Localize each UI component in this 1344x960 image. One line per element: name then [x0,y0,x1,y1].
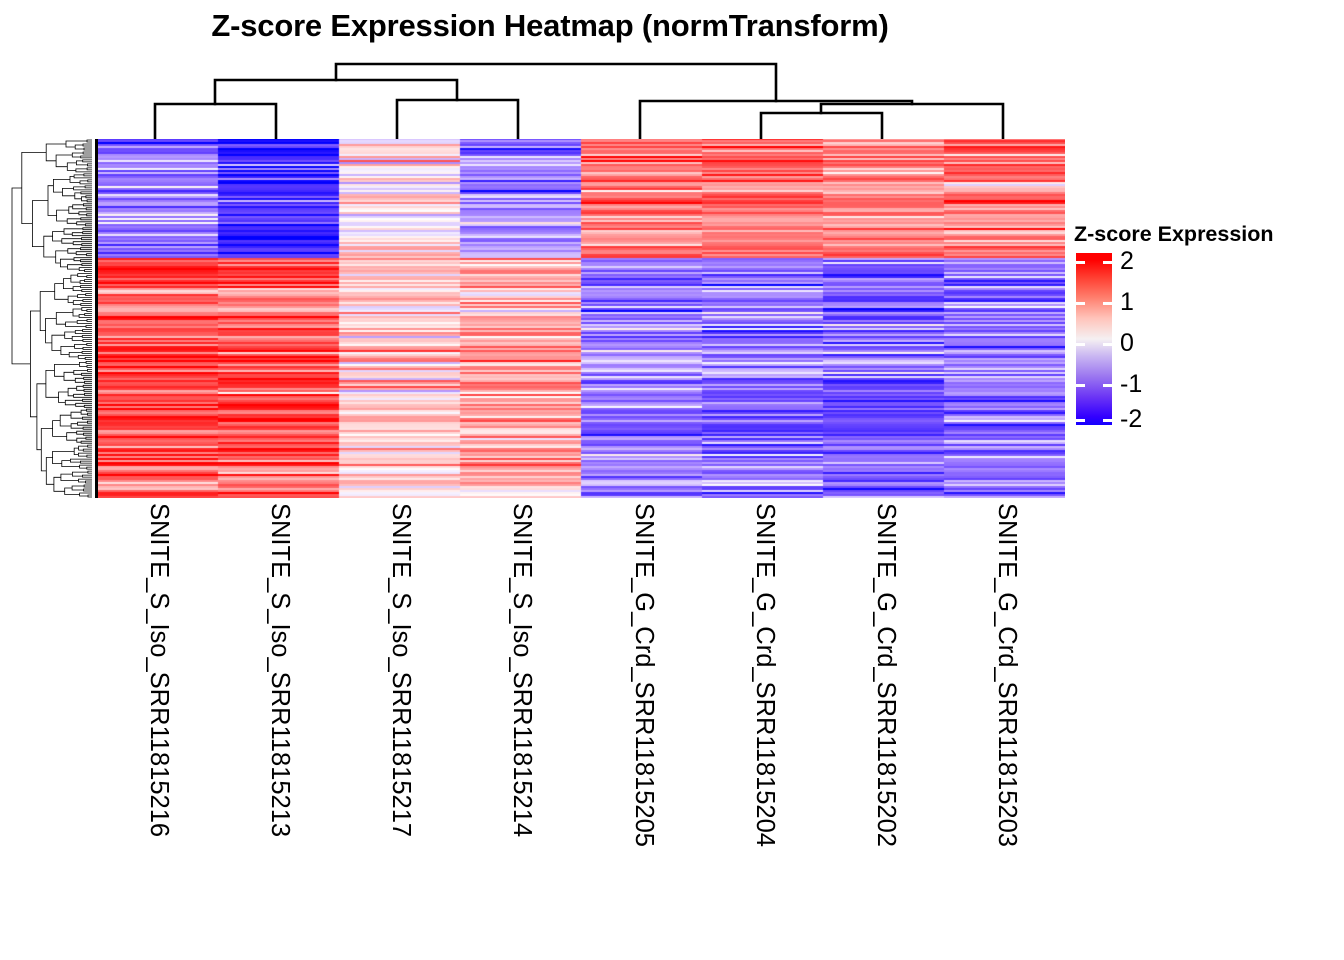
column-label-3: SNITE_S_Iso_SRR11815214 [510,503,536,923]
column-label-6: SNITE_G_Crd_SRR11815202 [874,503,900,923]
column-label-1: SNITE_S_Iso_SRR11815213 [268,503,294,923]
colorbar-tick-mark [1076,419,1085,422]
heatmap-panel[interactable] [95,139,1065,498]
colorbar-tick-label-minus2: -2 [1120,407,1142,432]
colorbar-tick-label-minus1: -1 [1120,372,1142,397]
colorbar-tick-mark [1103,343,1112,346]
column-label-4: SNITE_G_Crd_SRR11815205 [632,503,658,923]
legend-colorbar-body: 2 1 0 -1 -2 [1074,253,1339,429]
colorbar-tick-mark [1076,343,1085,346]
colorbar-tick-mark [1103,261,1112,264]
colorbar-tick-mark [1103,384,1112,387]
colorbar-tick-mark [1076,302,1085,305]
legend-title: Z-score Expression [1074,222,1339,247]
page-title: Z-score Expression Heatmap (normTransfor… [0,8,1100,44]
row-dendrogram [10,139,92,498]
column-dendrogram [0,55,1080,140]
column-label-5: SNITE_G_Crd_SRR11815204 [753,503,779,923]
colorbar-tick-mark [1103,419,1112,422]
heatmap-canvas[interactable] [98,139,1065,498]
column-label-0: SNITE_S_Iso_SRR11815216 [147,503,173,923]
colorbar-tick-label-1: 1 [1120,290,1134,315]
colorbar-tick-mark [1103,302,1112,305]
column-label-7: SNITE_G_Crd_SRR11815203 [995,503,1021,923]
colorbar-tick-label-0: 0 [1120,331,1134,356]
colorbar-tick-mark [1076,384,1085,387]
colorbar-tick-mark [1076,261,1085,264]
column-label-2: SNITE_S_Iso_SRR11815217 [389,503,415,923]
colorbar-tick-label-2: 2 [1120,249,1134,274]
colorbar-gradient [1076,253,1112,425]
legend: Z-score Expression 2 1 0 -1 -2 [1074,222,1339,429]
